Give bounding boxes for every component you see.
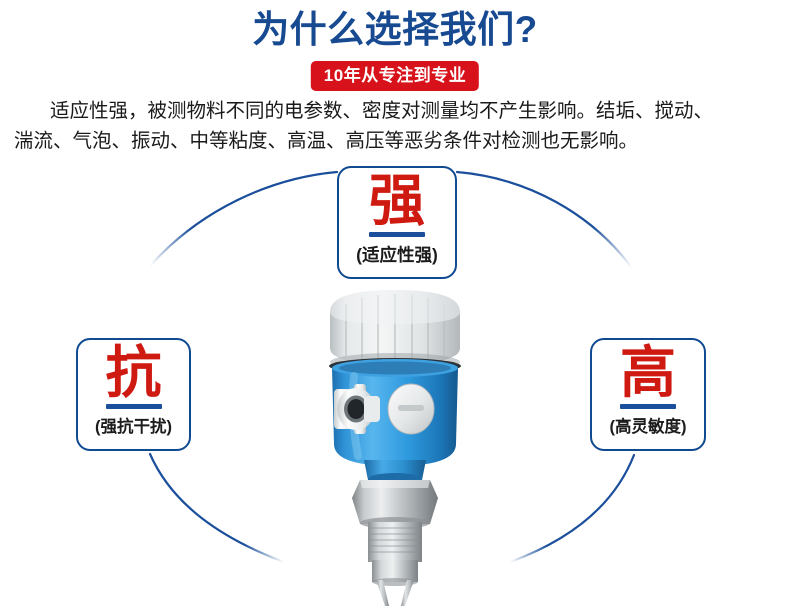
feature-glyph-adaptability: 强 (369, 172, 425, 230)
feature-box-anti-interference[interactable]: 抗 (强抗干扰) (76, 338, 191, 451)
promo-page: 为什么选择我们? 10年从专注到专业 适应性强，被测物料不同的电参数、密度对测量… (0, 0, 790, 611)
feature-glyph-anti-interference: 抗 (106, 344, 162, 402)
arc-bottom-right (510, 455, 634, 562)
feature-glyph-high-sensitivity: 高 (620, 344, 676, 402)
feature-box-adaptability[interactable]: 强 (适应性强) (337, 166, 457, 279)
arc-top-left (150, 172, 337, 266)
feature-label-anti-interference: (强抗干扰) (95, 416, 172, 438)
device-illustration (306, 284, 484, 611)
threaded-stem (368, 522, 422, 586)
arc-bottom-left (150, 454, 284, 562)
feature-label-high-sensitivity: (高灵敏度) (610, 416, 687, 438)
feature-rule (106, 404, 162, 409)
arc-top-right (457, 172, 632, 268)
feature-rule (369, 232, 425, 237)
feature-label-adaptability: (适应性强) (356, 244, 438, 266)
blind-plug-icon (388, 384, 434, 434)
feature-rule (620, 404, 676, 409)
process-connection-hex (352, 480, 438, 529)
feature-box-high-sensitivity[interactable]: 高 (高灵敏度) (590, 338, 706, 451)
